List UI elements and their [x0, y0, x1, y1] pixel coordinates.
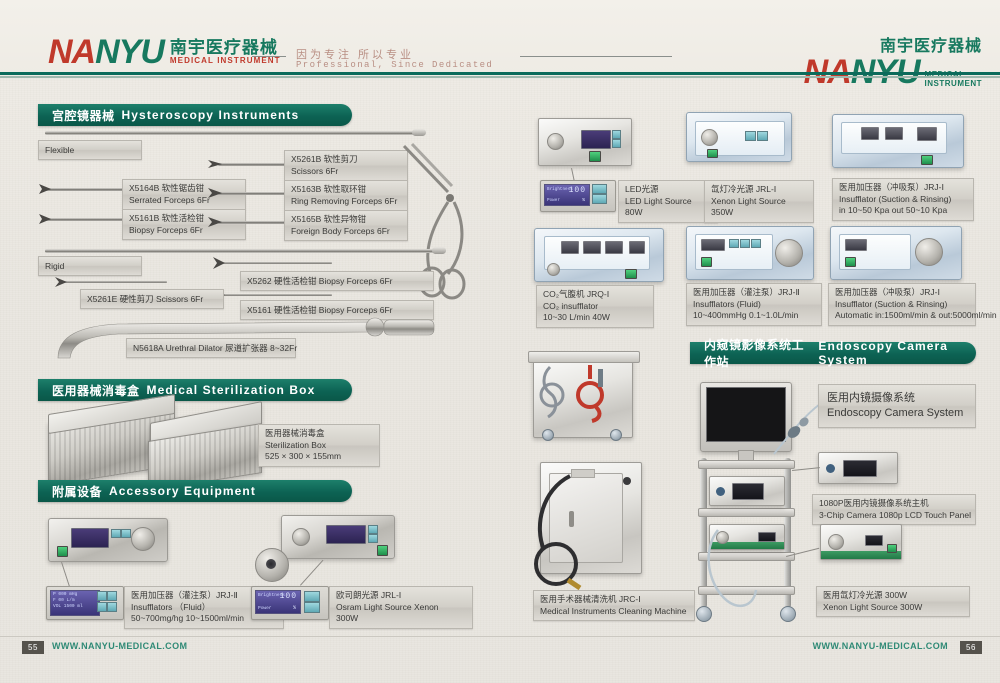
fluid-pump-lcd-btn-2[interactable] [107, 591, 117, 601]
device-osram-light-source [281, 515, 395, 559]
fluid-pump-lcd: P 000 mHg F 00 L/m VOL 1500 ml [50, 590, 100, 616]
rigid-shaft-1 [222, 262, 332, 264]
auto-suction-roller-pump[interactable] [915, 238, 943, 266]
rigid-scissors-jaw-icon [52, 275, 68, 289]
led-power-button[interactable] [589, 151, 601, 162]
fluid-pump-display [71, 528, 109, 548]
fluid-insufflator-btn-1[interactable] [729, 239, 739, 248]
header-rule-secondary [0, 76, 1000, 78]
logo-left-subtitle: MEDICAL INSTRUMENT [170, 56, 281, 66]
group-label-flexible: Flexible [38, 140, 142, 160]
instrument-shaft-4 [218, 192, 290, 195]
device-cleaning-cabinet-top [533, 358, 633, 438]
scissors-jaw-icon-3 [205, 157, 223, 171]
right-device-caption-2: 氙灯冷光源 JRL-Ⅰ Xenon Light Source 350W [704, 180, 814, 223]
fiber-optic-cable [690, 520, 810, 620]
rigid-scope-tip [432, 247, 446, 254]
catalog-spread: NANYU 南宇医疗器械 MEDICAL INSTRUMENT 因为专注 所以专… [0, 0, 1000, 683]
auto-suction-display [845, 239, 867, 251]
section-title-hysteroscopy: 宫腔镜器械 Hysteroscopy Instruments [38, 104, 352, 126]
forceps-jaw-icon-1 [36, 182, 52, 196]
xenon-power-button[interactable] [707, 149, 718, 158]
xenon-300w-power-button[interactable] [887, 544, 897, 553]
led-lcd-btn-down[interactable] [592, 194, 607, 204]
dilator-caption: N5618A Urethral Dilator 尿道扩张器 8~32Fr [126, 338, 296, 358]
logo-right: 南宇医疗器械 NANYU MEDICAL INSTRUMENT [804, 32, 982, 88]
device-xenon-light-source [686, 112, 792, 162]
right-device-caption-5: 医用加压器（灌注泵）JRJ-Ⅱ Insufflators (Fluid) 10~… [686, 283, 822, 326]
rigid-caption-3: X5261E 硬性剪刀 Scissors 6Fr [80, 289, 224, 309]
fluid-insufflator-btn-3[interactable] [751, 239, 761, 248]
suction-power-button[interactable] [921, 155, 933, 165]
camera-callout-2: 1080P医用内镜摄像系统主机 3-Chip Camera 1080p LCD … [812, 494, 976, 525]
cleaning-machine-hose [508, 468, 618, 598]
chip-camera-port[interactable] [826, 464, 835, 473]
right-device-caption-6: 医用加压器（冲吸泵）JRJ-Ⅰ Insufflator (Suction & R… [828, 283, 976, 326]
chip-camera-display [843, 460, 877, 477]
xenon-button-b[interactable] [757, 131, 768, 141]
xenon-output-port[interactable] [701, 129, 718, 146]
instrument-caption-2: X5161B 软性活检钳 Biopsy Forceps 6Fr [122, 209, 246, 240]
xenon-button-a[interactable] [745, 131, 756, 141]
auto-suction-power-button[interactable] [845, 257, 856, 267]
cleaning-cabinet-top-surface [528, 351, 640, 363]
cleaning-top-caster-left [542, 429, 554, 441]
camera-control-display [732, 483, 764, 500]
camera-control-unit [709, 476, 785, 506]
chip-camera-unit [818, 452, 898, 484]
footer-site-right[interactable]: WWW.NANYU-MEDICAL.COM [813, 641, 948, 651]
osram-display [326, 525, 366, 544]
device-fluid-insufflator [686, 226, 814, 280]
section-title-sterilization: 医用器械消毒盒 Medical Sterilization Box [38, 379, 352, 401]
forceps-jaw-icon-2 [36, 212, 52, 226]
device-suction-rinsing-insufflator [832, 114, 964, 168]
osram-output-port[interactable] [292, 528, 310, 546]
flexible-scope-tip [412, 129, 426, 136]
suction-display-1 [861, 127, 879, 140]
camera-callout-3: 医用氙灯冷光源 300W Xenon Light Source 300W [816, 586, 970, 617]
logo-left: NANYU 南宇医疗器械 MEDICAL INSTRUMENT [48, 36, 281, 68]
page-number-left: 55 [22, 641, 44, 654]
forceps-jaw-icon-4 [205, 186, 223, 200]
slogan-rule-left [252, 56, 286, 57]
led-lcd-btn-up[interactable] [592, 184, 607, 194]
grey-coiled-hose [538, 365, 578, 423]
forceps-jaw-icon-5 [205, 215, 223, 229]
fluid-pump-power-button[interactable] [57, 546, 68, 557]
page-header: NANYU 南宇医疗器械 MEDICAL INSTRUMENT 因为专注 所以专… [0, 0, 1000, 78]
osram-lcd-plate: Brightness 100 Power % [251, 586, 329, 620]
footer-rule [0, 636, 1000, 637]
leader-line-fluid-pump [61, 562, 70, 587]
right-device-caption-3: 医用加压器（冲吸泵）JRJ-Ⅰ Insufflator (Suction & R… [832, 178, 974, 221]
rigid-scope-shaft [45, 249, 435, 253]
group-label-rigid: Rigid [38, 256, 142, 276]
slogan-english: Professional, Since Dedicated [296, 60, 493, 70]
co2-gas-port[interactable] [547, 263, 560, 276]
logo-left-wordmark: NANYU [48, 36, 164, 68]
suction-display-2 [885, 127, 903, 140]
fluid-pump-lcd-btn-3[interactable] [97, 602, 107, 612]
logo-left-chinese: 南宇医疗器械 [170, 39, 281, 56]
fluid-pump-button-a[interactable] [111, 529, 121, 538]
rigid-shaft-2 [222, 294, 332, 296]
device-co2-insufflator [534, 228, 664, 282]
led-lcd-plate: Brightness 100 Power % [540, 180, 616, 212]
instrument-shaft-5 [218, 221, 290, 224]
section-title-accessory: 附属设备 Accessory Equipment [38, 480, 352, 502]
right-device-caption-4: CO₂气腹机 JRQ-Ⅰ CO₂ insufflator 10~30 L/min… [536, 285, 654, 328]
flexible-scope-shaft [45, 131, 415, 135]
co2-power-button[interactable] [625, 269, 637, 279]
slogan-rule-right [520, 56, 672, 57]
co2-display-1 [561, 241, 579, 254]
page-number-right: 56 [960, 641, 982, 654]
fluid-pump-lcd-plate: P 000 mHg F 00 L/m VOL 1500 ml [46, 586, 124, 620]
osram-lamp-aperture [266, 559, 276, 569]
fluid-pump-knob[interactable] [131, 527, 155, 551]
fluid-insufflator-btn-2[interactable] [740, 239, 750, 248]
osram-button-up[interactable] [368, 525, 378, 534]
rigid-shaft-3 [62, 281, 167, 283]
co2-display-3 [605, 241, 623, 254]
fluid-pump-lcd-btn-4[interactable] [107, 602, 117, 612]
device-led-light-source [538, 118, 632, 166]
co2-display-4 [629, 241, 645, 254]
suction-display-3 [917, 127, 937, 141]
cleaning-top-caster-right [610, 429, 622, 441]
cart-shelf-2 [698, 508, 795, 517]
footer-site-left[interactable]: WWW.NANYU-MEDICAL.COM [52, 641, 187, 651]
osram-lcd-btn-up[interactable] [304, 591, 320, 602]
led-button-up[interactable] [612, 130, 621, 139]
xenon-300w-display [865, 535, 883, 546]
device-fluid-pump [48, 518, 168, 562]
fluid-pump-button-b[interactable] [121, 529, 131, 538]
led-button-down[interactable] [612, 139, 621, 148]
sterilization-box-caption: 医用器械消毒盒 Sterilization Box 525 × 300 × 15… [258, 424, 380, 467]
rigid-jaw-icon-1 [210, 255, 226, 271]
header-rule-primary [0, 72, 1000, 75]
instrument-shaft-3 [218, 163, 290, 166]
fluid-insufflator-roller-pump[interactable] [775, 239, 803, 267]
device-auto-suction-insufflator [830, 226, 962, 280]
fluid-insufflator-power-button[interactable] [701, 257, 712, 267]
xenon-300w-output-port[interactable] [828, 534, 844, 550]
accessory-caption-2: 欧司朗光源 JRL-Ⅰ Osram Light Source Xenon 300… [329, 586, 473, 629]
led-output-port[interactable] [547, 133, 564, 150]
osram-button-down[interactable] [368, 534, 378, 543]
section-title-camera-system: 内窥镜影像系统工作站 Endoscopy Camera System [690, 342, 976, 364]
led-display [581, 130, 611, 149]
cleaning-machine-knob[interactable] [623, 477, 631, 485]
camera-callout-1: 医用内镜摄像系统 Endoscopy Camera System [818, 384, 976, 428]
led-lcd: Brightness 100 Power % [544, 184, 590, 206]
cleaning-machine-caption: 医用手术器械清洗机 JRC-Ⅰ Medical Instruments Clea… [533, 590, 695, 621]
right-device-caption-1: LED光源 LED Light Source 80W [618, 180, 718, 223]
fluid-insufflator-display [701, 239, 725, 251]
leader-line-osram [300, 560, 323, 586]
osram-lcd: Brightness 100 Power % [255, 590, 301, 614]
osram-lcd-btn-down[interactable] [304, 602, 320, 613]
osram-power-button[interactable] [377, 545, 388, 556]
cart-xenon-300w-unit [820, 524, 902, 560]
rigid-caption-1: X5262 硬性活检钳 Biopsy Forceps 6Fr [240, 271, 434, 291]
red-coiled-hose [576, 363, 614, 425]
co2-display-2 [583, 241, 601, 254]
camera-control-port[interactable] [716, 487, 725, 496]
fluid-pump-lcd-btn-1[interactable] [97, 591, 107, 601]
